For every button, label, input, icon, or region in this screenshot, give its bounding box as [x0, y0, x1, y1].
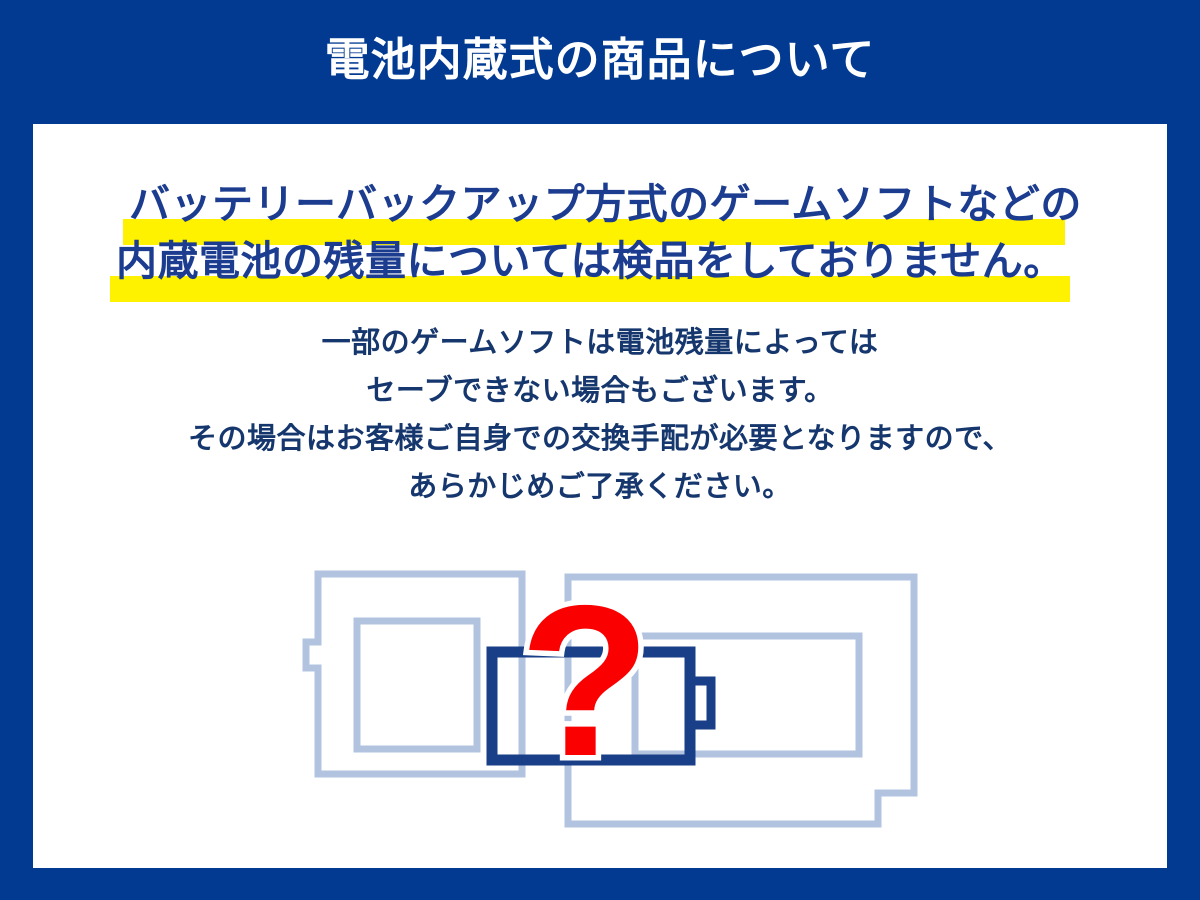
game-cartridge-battery-question-illustration: ? — [280, 550, 940, 840]
body-line: セーブできない場合もございます。 — [33, 367, 1167, 415]
body-line: あらかじめご了承ください。 — [33, 463, 1167, 511]
headline-line-1: バッテリーバックアップ方式のゲームソフトなどの — [129, 184, 1082, 225]
body-paragraph: 一部のゲームソフトは電池残量によっては セーブできない場合もございます。 その場… — [33, 319, 1167, 511]
slide-canvas: 電池内蔵式の商品について バッテリーバックアップ方式のゲームソフトなどの 内蔵電… — [0, 0, 1200, 900]
page-title: 電池内蔵式の商品について — [325, 37, 876, 82]
question-mark-icon: ? — [519, 560, 650, 801]
svg-text:?: ? — [519, 560, 650, 801]
body-line: その場合はお客様ご自身での交換手配が必要となりますので、 — [33, 415, 1167, 463]
title-band: 電池内蔵式の商品について — [0, 0, 1200, 124]
content-panel: バッテリーバックアップ方式のゲームソフトなどの 内蔵電池の残量については検品をし… — [33, 124, 1167, 868]
headline-line-2: 内蔵電池の残量については検品をしておりません。 — [116, 241, 1065, 282]
body-line: 一部のゲームソフトは電池残量によっては — [33, 319, 1167, 367]
